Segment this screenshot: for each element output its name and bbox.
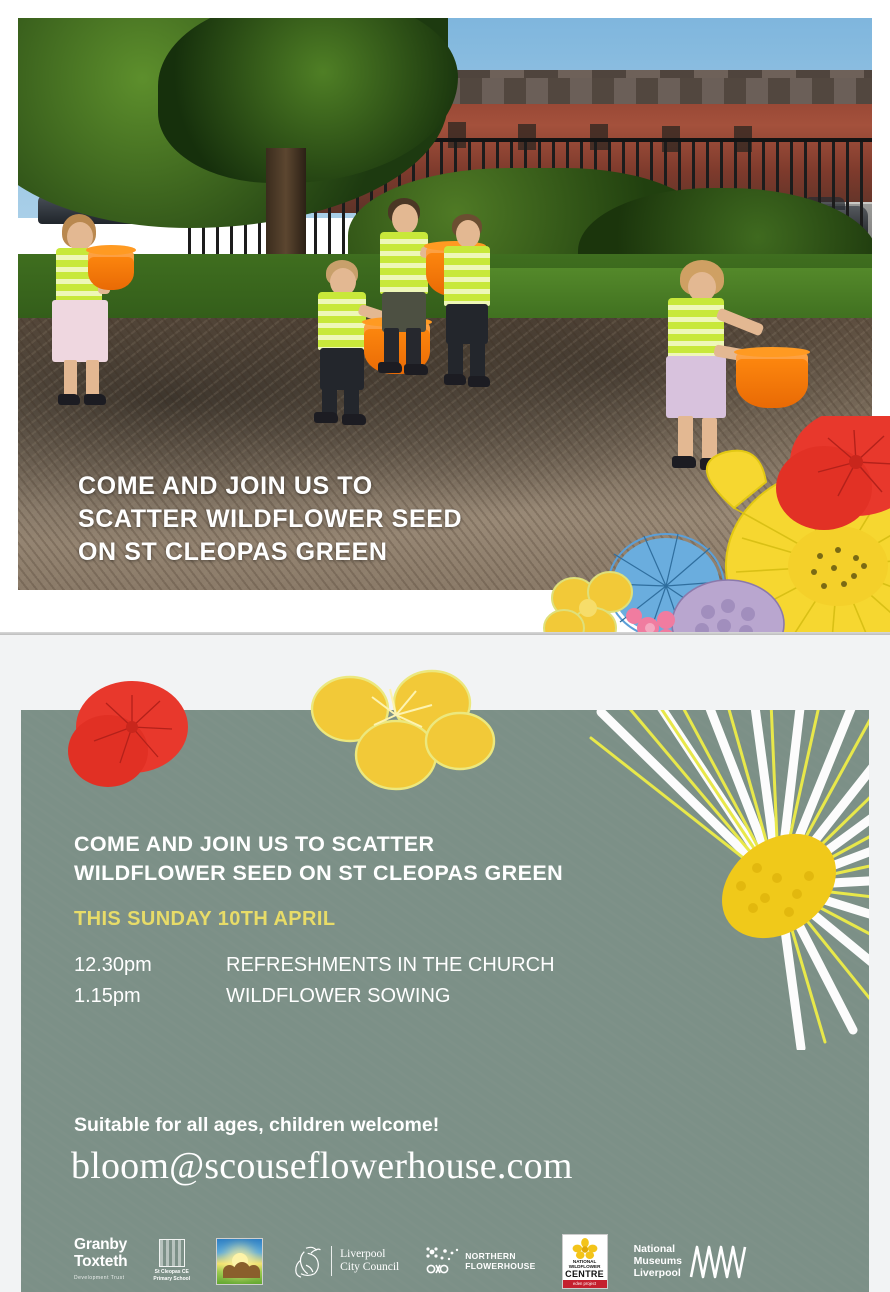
child xyxy=(40,214,130,406)
event-date: THIS SUNDAY 10TH APRIL xyxy=(74,908,335,931)
northern-flowerhouse-line-1: NORTHERN xyxy=(465,1251,535,1261)
nwc-line-2: CENTRE xyxy=(565,1269,604,1279)
lcc-line-2: City Council xyxy=(340,1261,399,1274)
photo-headline-line-1: COME AND JOIN US TO xyxy=(78,470,638,503)
sunrise-icon xyxy=(216,1238,263,1285)
event-headline-line-1: COME AND JOIN US TO SCATTER xyxy=(74,830,654,859)
photo-headline-line-2: SCATTER WILDFLOWER SEED xyxy=(78,503,638,536)
top-screenshot-panel: COME AND JOIN US TO SCATTER WILDFLOWER S… xyxy=(0,0,890,634)
nml-line-2: Museums xyxy=(634,1255,682,1267)
nml-line-3: Liverpool xyxy=(634,1267,682,1279)
tree-trunk xyxy=(266,148,306,268)
event-details-card: COME AND JOIN US TO SCATTER WILDFLOWER S… xyxy=(21,710,869,1292)
child xyxy=(652,260,787,480)
nml-line-1: National xyxy=(634,1243,682,1255)
event-headline-line-2: WILDFLOWER SEED ON ST CLEOPAS GREEN xyxy=(74,859,654,888)
schedule-row: 12.30pm REFRESHMENTS IN THE CHURCH xyxy=(74,950,674,981)
logo-northern-flowerhouse: NORTHERN FLOWERHOUSE xyxy=(425,1246,535,1276)
northern-flowerhouse-line-2: FLOWERHOUSE xyxy=(465,1261,535,1271)
logo-sunrise-emblem xyxy=(216,1238,263,1285)
event-headline: COME AND JOIN US TO SCATTER WILDFLOWER S… xyxy=(74,830,654,888)
lcc-line-1: Liverpool xyxy=(340,1248,399,1261)
granby-line-1: Granby xyxy=(74,1236,127,1253)
liver-bird-icon xyxy=(289,1243,323,1279)
schedule-row: 1.15pm WILDFLOWER SOWING xyxy=(74,981,674,1012)
logo-st-cleopas-school: St Cleopas CE Primary School xyxy=(153,1239,190,1283)
event-photo-card: COME AND JOIN US TO SCATTER WILDFLOWER S… xyxy=(18,18,872,590)
granby-line-2: Toxteth xyxy=(74,1253,127,1270)
photo-headline: COME AND JOIN US TO SCATTER WILDFLOWER S… xyxy=(78,470,638,569)
logo-national-museums-liverpool: National Museums Liverpool xyxy=(634,1243,747,1279)
event-schedule: 12.30pm REFRESHMENTS IN THE CHURCH 1.15p… xyxy=(74,950,674,1012)
logo-national-wildflower-centre: NATIONAL WILDFLOWER CENTRE eden project xyxy=(562,1234,608,1289)
suitability-note: Suitable for all ages, children welcome! xyxy=(74,1114,439,1137)
child xyxy=(436,214,526,396)
school-line-1: St Cleopas CE xyxy=(153,1269,190,1276)
orange-bucket xyxy=(88,250,134,290)
schedule-time: 1.15pm xyxy=(74,981,226,1012)
contact-email[interactable]: bloom@scouseflowerhouse.com xyxy=(71,1144,573,1188)
nml-wave-icon xyxy=(689,1243,747,1279)
school-crest-icon xyxy=(159,1239,185,1267)
wildflower-icon xyxy=(572,1238,598,1259)
nwc-eden-bar: eden project xyxy=(563,1280,607,1288)
flowerhouse-icon xyxy=(425,1246,459,1276)
wildflower-sowing-photo: COME AND JOIN US TO SCATTER WILDFLOWER S… xyxy=(18,18,872,590)
logo-liverpool-city-council: Liverpool City Council xyxy=(289,1243,399,1279)
orange-bucket xyxy=(736,352,808,408)
schedule-activity: WILDFLOWER SOWING xyxy=(226,981,450,1012)
partner-logo-strip: Granby Toxteth Development Trust St Cleo… xyxy=(74,1230,794,1292)
schedule-time: 12.30pm xyxy=(74,950,226,981)
bottom-screenshot-panel: COME AND JOIN US TO SCATTER WILDFLOWER S… xyxy=(0,635,890,1292)
granby-subtitle: Development Trust xyxy=(74,1270,127,1287)
pink-flower-icon xyxy=(626,608,675,634)
nwc-line-1: NATIONAL WILDFLOWER xyxy=(563,1259,607,1269)
logo-granby-toxteth: Granby Toxteth Development Trust xyxy=(74,1236,127,1287)
photo-headline-line-3: ON ST CLEOPAS GREEN xyxy=(78,536,638,569)
schedule-activity: REFRESHMENTS IN THE CHURCH xyxy=(226,950,555,981)
school-line-2: Primary School xyxy=(153,1276,190,1283)
